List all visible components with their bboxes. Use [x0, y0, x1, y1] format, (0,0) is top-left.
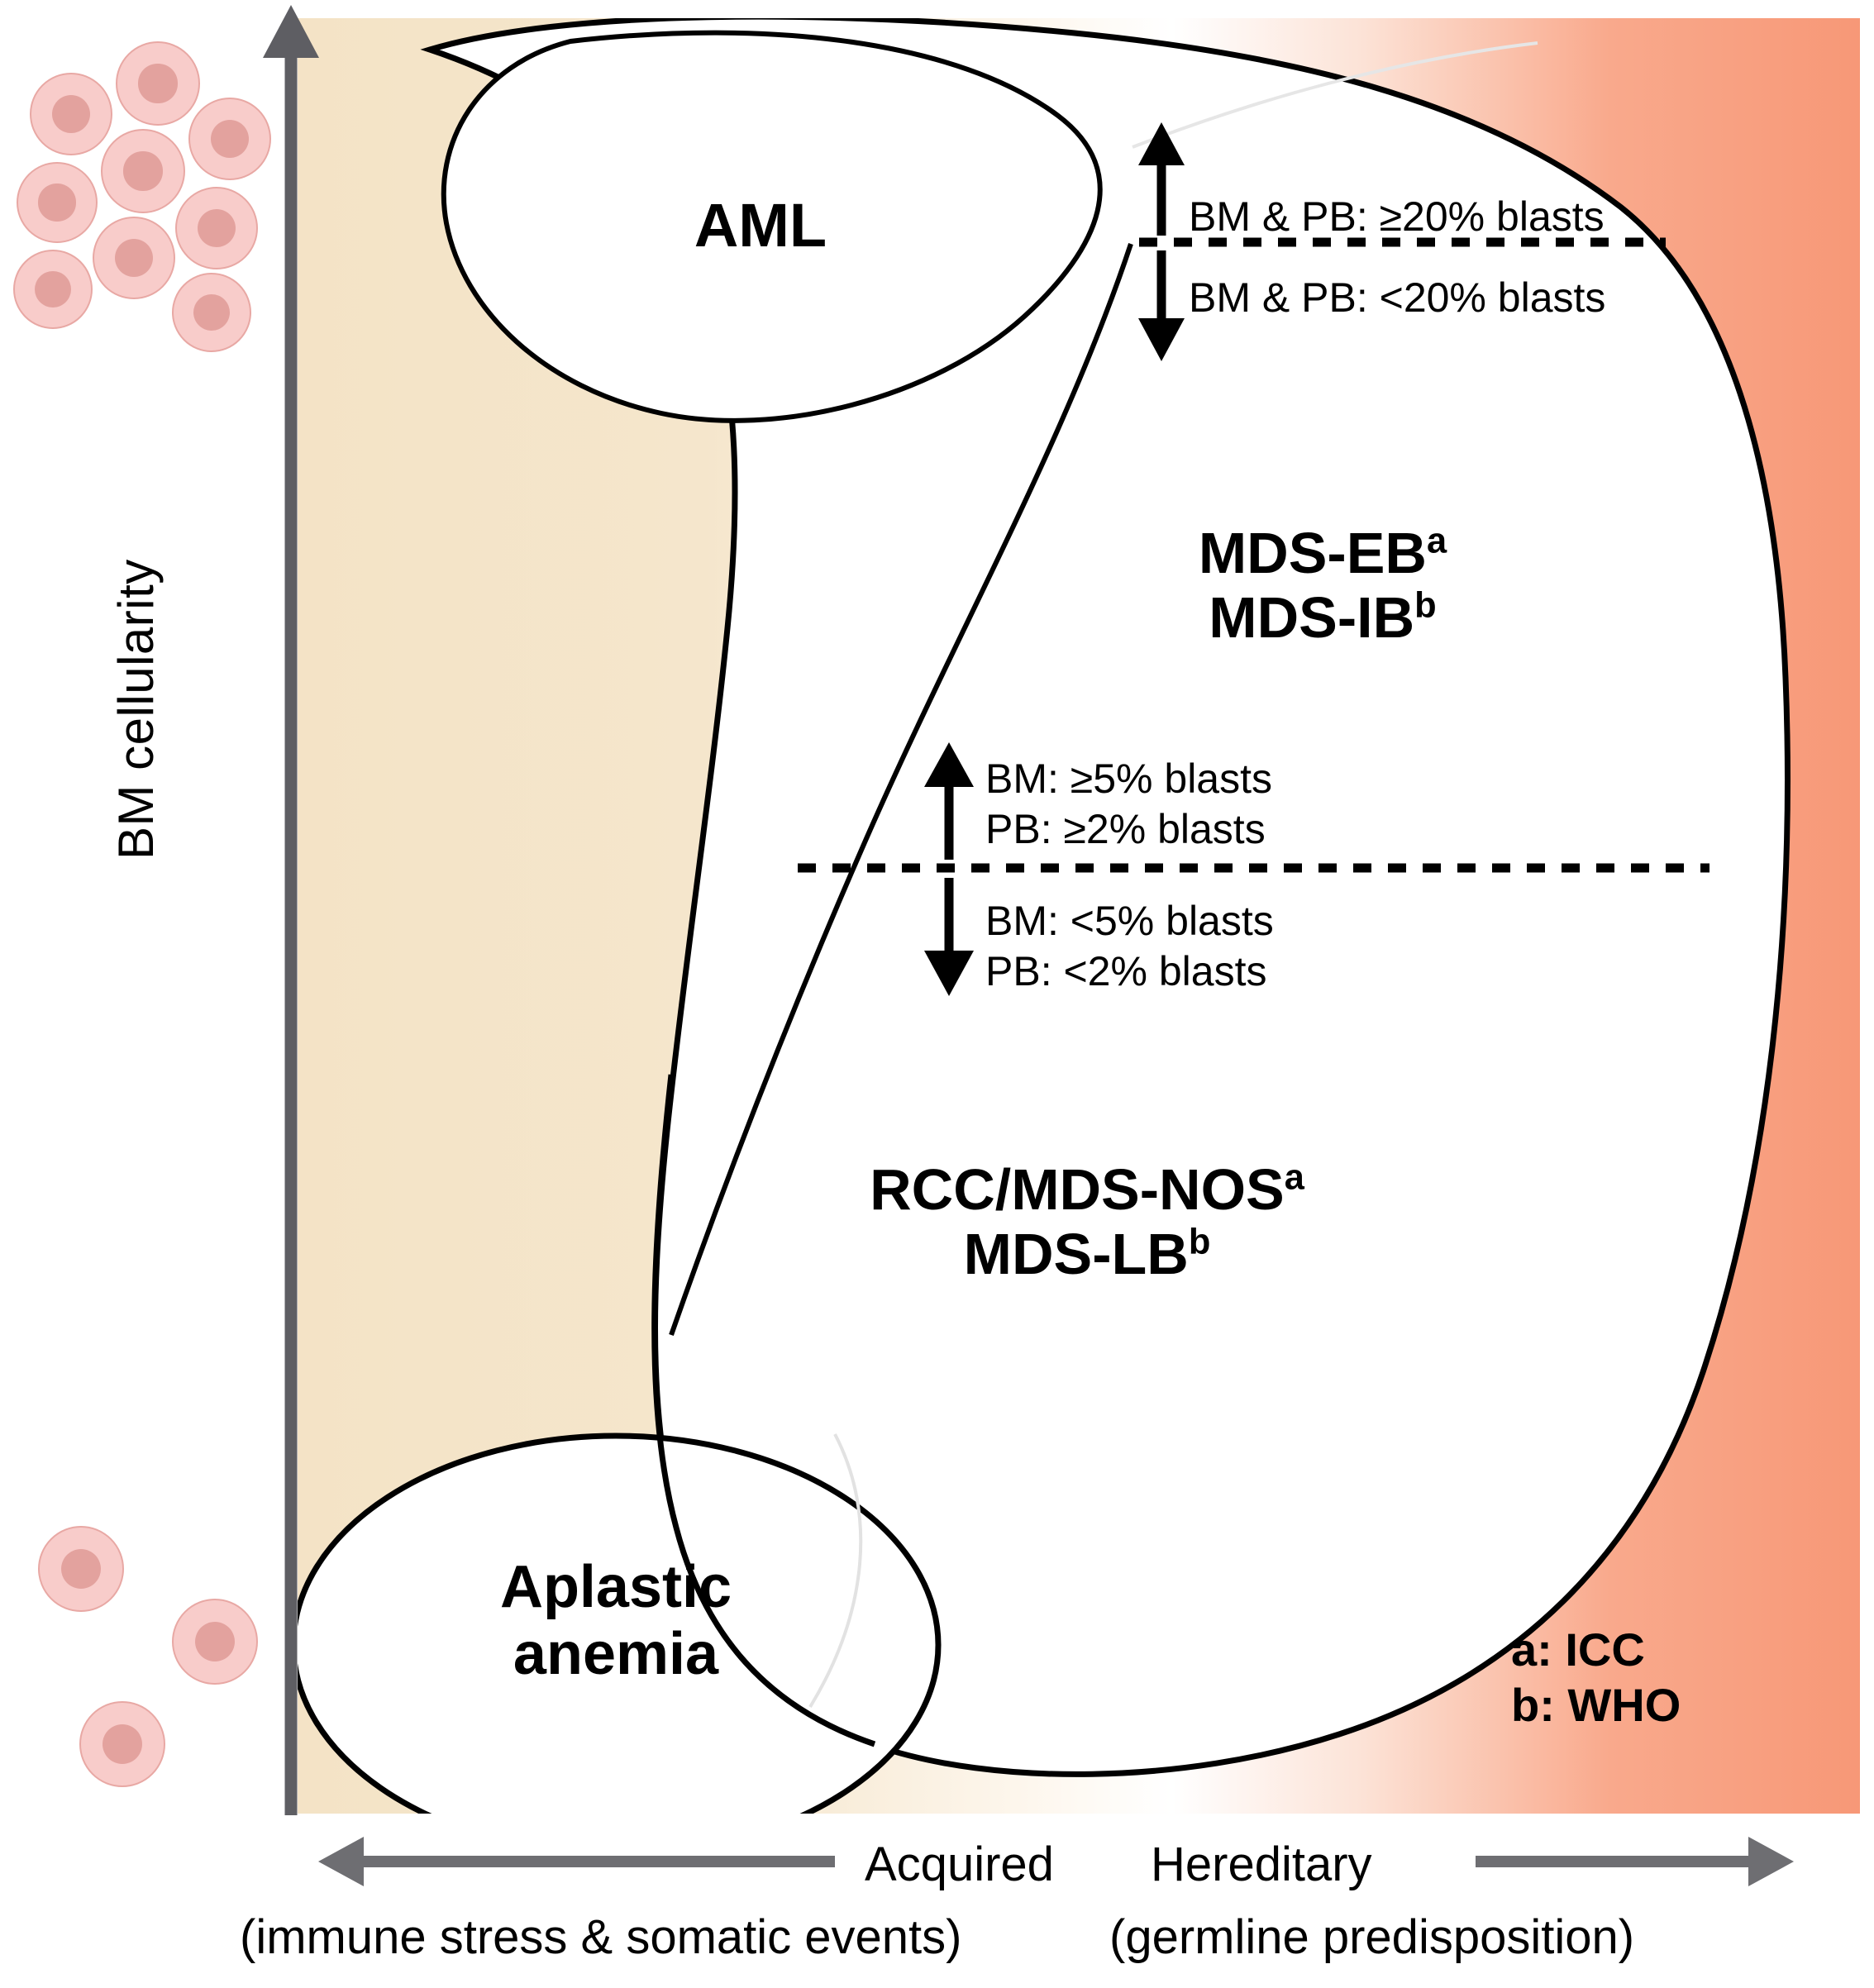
- footnote-legend: a: ICC b: WHO: [1511, 1622, 1681, 1733]
- y-axis-label: BM cellularity: [107, 559, 165, 860]
- x-axis-sublabel-acquired: (immune stress & somatic events): [240, 1909, 961, 1965]
- x-axis-arrow-left: [318, 1837, 835, 1886]
- threshold-5-2pct-above-text: BM: ≥5% blasts PB: ≥2% blasts: [985, 754, 1272, 855]
- threshold-5-2pct-below-text: BM: <5% blasts PB: <2% blasts: [985, 896, 1274, 997]
- figure-canvas: BM cellularity AML MDS-EBa MDS-IBb RCC/M…: [0, 0, 1874, 1988]
- region-label-mds-high-blast: MDS-EBa MDS-IBb: [1149, 521, 1496, 651]
- x-axis-sublabel-hereditary: (germline predisposition): [1109, 1909, 1634, 1965]
- rcc-mds-nos-line: RCC/MDS-NOSa: [870, 1157, 1304, 1222]
- threshold-20pct-above-text: BM & PB: ≥20% blasts: [1189, 192, 1605, 242]
- region-label-aml: AML: [628, 192, 893, 260]
- threshold-20pct-below-text: BM & PB: <20% blasts: [1189, 273, 1605, 323]
- cell-cluster-sparse-icon: [8, 1488, 256, 1761]
- mds-lb-line: MDS-LBb: [964, 1222, 1211, 1286]
- mds-eb-line: MDS-EBa: [1199, 521, 1447, 585]
- legend-line-a: a: ICC: [1511, 1623, 1645, 1676]
- x-axis-label-acquired: Acquired: [865, 1837, 1054, 1892]
- x-axis-arrow-right: [1476, 1837, 1794, 1886]
- legend-line-b: b: WHO: [1511, 1679, 1681, 1731]
- mds-ib-line: MDS-IBb: [1209, 585, 1436, 650]
- region-label-mds-low-blast: RCC/MDS-NOSa MDS-LBb: [827, 1157, 1347, 1287]
- x-axis-label-hereditary: Hereditary: [1151, 1837, 1372, 1892]
- region-label-aplastic-anemia: Aplastic anemia: [405, 1554, 827, 1687]
- cell-cluster-dense-icon: [0, 25, 273, 298]
